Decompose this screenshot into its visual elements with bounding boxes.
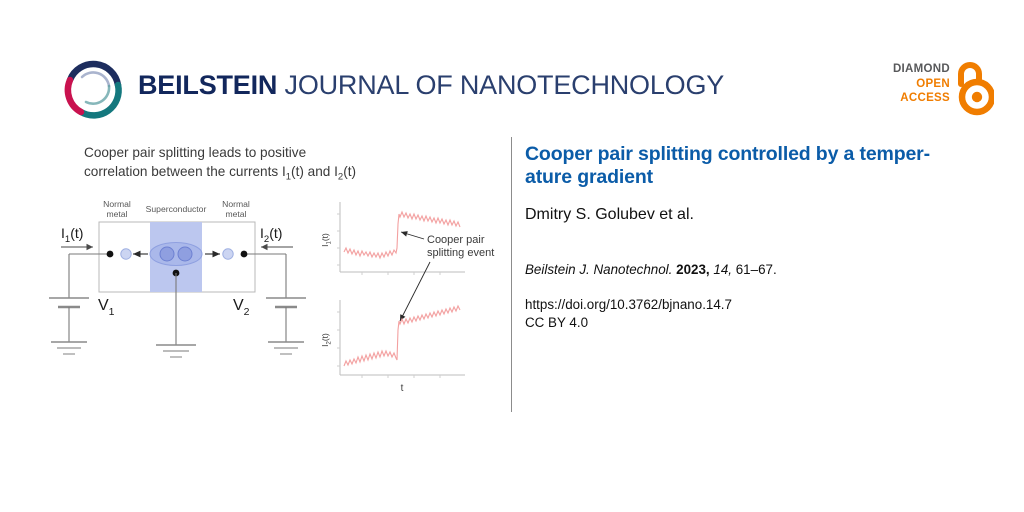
article-title-line-2: ature gradient — [525, 166, 653, 188]
electron-right — [223, 249, 233, 259]
article-title-line-1: Cooper pair splitting controlled by a te… — [525, 143, 930, 165]
content-divider — [511, 137, 512, 412]
masthead: BEILSTEIN JOURNAL OF NANOTECHNOLOGY DIAM… — [0, 0, 1024, 132]
graphical-abstract-caption: Cooper pair splitting leads to positive … — [84, 144, 484, 187]
annotation-line-2: splitting event — [427, 247, 494, 259]
citation-year: 2023, — [676, 262, 710, 277]
article-citation: Beilstein J. Nanotechnol. 2023, 14, 61–6… — [525, 262, 980, 277]
oa-label-access: ACCESS — [872, 91, 950, 106]
cooper-pair-electron-2 — [178, 247, 192, 261]
article-doi-block: https://doi.org/10.3762/bjnano.14.7 CC B… — [525, 296, 980, 331]
beilstein-circle-logo-icon — [56, 52, 130, 126]
oa-label-diamond: DIAMOND — [872, 62, 950, 77]
cooper-pair-envelope — [150, 243, 202, 266]
battery-left — [49, 298, 89, 342]
journal-wordmark: BEILSTEIN JOURNAL OF NANOTECHNOLOGY — [138, 70, 724, 101]
wordmark-beilstein: BEILSTEIN — [138, 70, 277, 100]
voltage-label-right: V2 — [233, 297, 250, 318]
article-doi-link[interactable]: https://doi.org/10.3762/bjnano.14.7 — [525, 296, 980, 314]
citation-pages: 61–67. — [736, 262, 777, 277]
current-label-left: I1(t) — [61, 225, 83, 245]
caption-line-1: Cooper pair splitting leads to positive — [84, 145, 306, 160]
label-normal-metal-left-line1: Normal — [103, 199, 131, 209]
article-info-panel: Cooper pair splitting controlled by a te… — [525, 143, 980, 331]
contact-dot-right — [241, 251, 248, 258]
annotation-arrow-top — [401, 232, 424, 239]
voltage-label-left: V1 — [98, 297, 115, 318]
citation-volume: 14, — [713, 262, 732, 277]
diamond-open-access-badge: DIAMOND OPEN ACCESS — [872, 60, 992, 122]
label-superconductor: Superconductor — [146, 204, 207, 214]
annotation-arrow-bottom — [400, 262, 430, 321]
contact-dot-left — [107, 251, 114, 258]
device-schematic: Normal metal Superconductor Normal metal… — [49, 199, 306, 357]
i1-y-axis-label: I1(t) — [320, 233, 333, 247]
ground-symbol-right — [268, 342, 304, 354]
cooper-pair-electron-1 — [160, 247, 174, 261]
plot-panel-i2: I2(t) t — [320, 300, 465, 394]
caption-line-2-end: (t) — [343, 164, 356, 179]
wordmark-journal-of-nanotechnology: JOURNAL OF NANOTECHNOLOGY — [277, 70, 724, 100]
plots-x-axis-label: t — [401, 383, 404, 394]
label-normal-metal-left-line2: metal — [106, 209, 127, 219]
caption-line-2-pre: correlation between the currents I — [84, 164, 286, 179]
i2-trace — [344, 306, 460, 366]
article-license: CC BY 4.0 — [525, 314, 980, 332]
article-title[interactable]: Cooper pair splitting controlled by a te… — [525, 143, 980, 189]
electron-left — [121, 249, 131, 259]
label-normal-metal-right-line2: metal — [225, 209, 246, 219]
current-trace-plots: I1(t) Cooper pair splitting event — [320, 202, 494, 394]
ground-symbol-center — [156, 345, 196, 357]
annotation-line-1: Cooper pair — [427, 234, 485, 246]
open-padlock-icon — [956, 60, 994, 116]
graphical-abstract-figure: Normal metal Superconductor Normal metal… — [40, 190, 510, 405]
oa-label-open: OPEN — [872, 77, 950, 92]
cooper-pair-event-annotation: Cooper pair splitting event — [400, 232, 494, 321]
current-label-right: I2(t) — [260, 225, 282, 245]
i2-y-axis-label: I2(t) — [320, 333, 333, 347]
label-normal-metal-right-line1: Normal — [222, 199, 250, 209]
battery-right — [266, 298, 306, 342]
caption-line-2-mid: (t) and I — [291, 164, 338, 179]
figure-svg: Normal metal Superconductor Normal metal… — [40, 190, 510, 405]
ground-symbol-left — [51, 342, 87, 354]
oa-badge-text: DIAMOND OPEN ACCESS — [872, 62, 950, 106]
citation-journal: Beilstein J. Nanotechnol. — [525, 262, 672, 277]
article-authors: Dmitry S. Golubev et al. — [525, 206, 980, 224]
